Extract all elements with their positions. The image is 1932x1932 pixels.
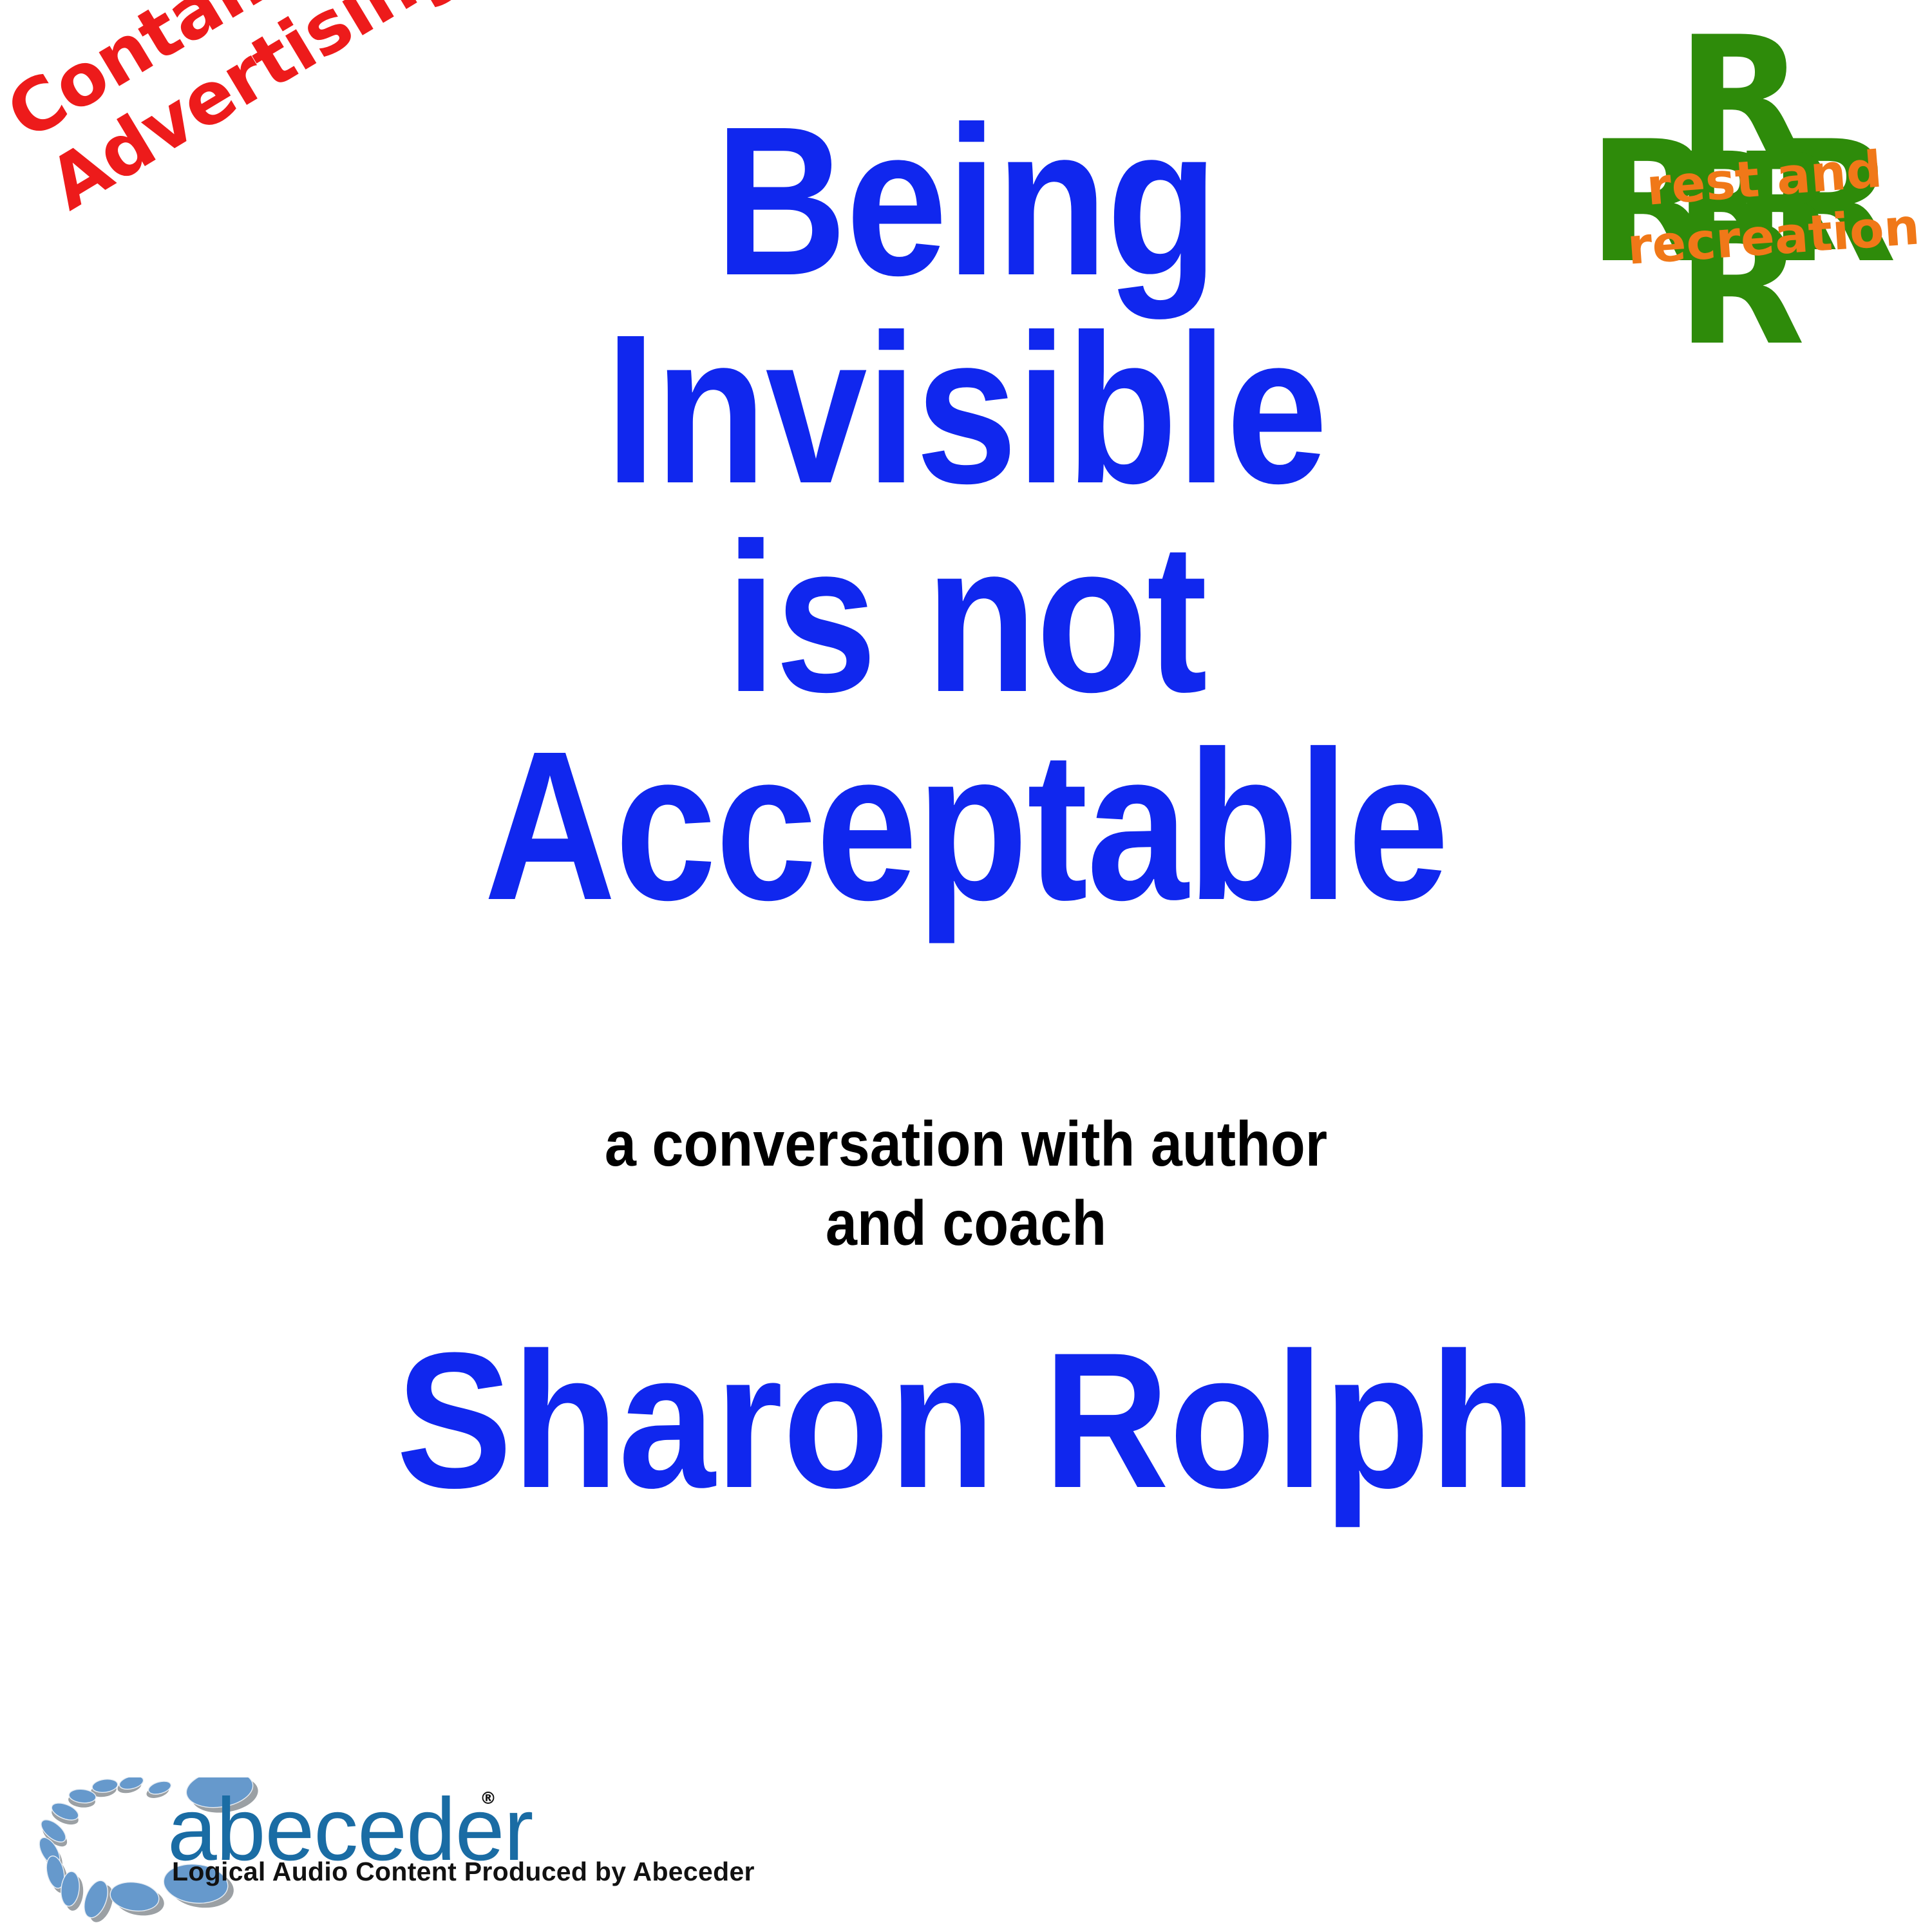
title-line-1: Being: [135, 97, 1797, 305]
abeceder-tagline: Logical Audio Content Produced by Abeced…: [172, 1859, 755, 1885]
abeceder-publisher-logo: abeceder ® Logical Audio Content Produce…: [29, 1777, 518, 1932]
title-line-4: Acceptable: [135, 721, 1797, 929]
author-name: Sharon Rolph: [0, 1323, 1932, 1517]
cover-title: Being Invisible is not Acceptable: [0, 97, 1932, 930]
title-line-2: Invisible: [135, 305, 1797, 513]
cover-subtitle: a conversation with author and coach: [0, 1104, 1932, 1262]
subtitle-line-2: and coach: [97, 1184, 1835, 1263]
subtitle-line-1: a conversation with author: [97, 1104, 1835, 1184]
author-name-text: Sharon Rolph: [396, 1323, 1536, 1517]
audiobook-cover-art: Contains Advertising R R R R R R rest an…: [0, 0, 1932, 1932]
registered-trademark-icon: ®: [480, 1789, 497, 1808]
title-line-3: is not: [135, 513, 1797, 721]
